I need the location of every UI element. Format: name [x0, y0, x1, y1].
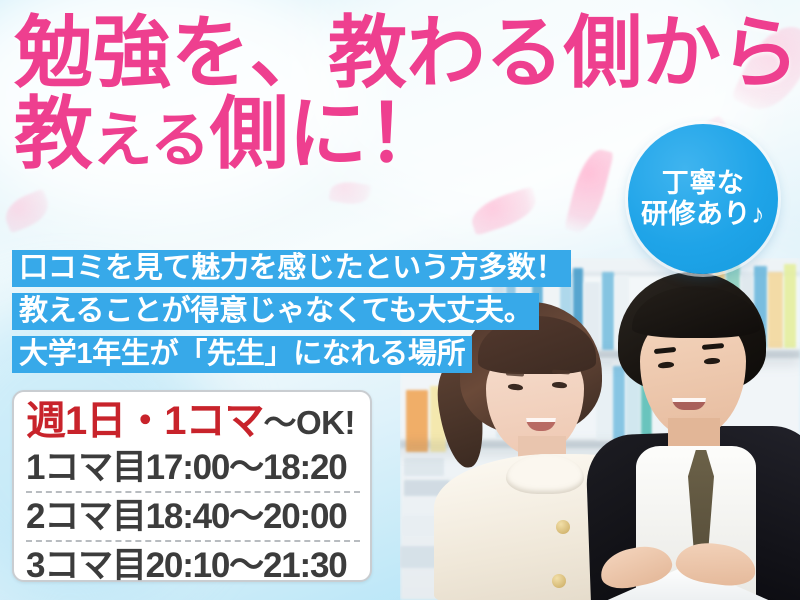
benefit-banner-list: 口コミを見て魅力を感じたという方多数！ 教えることが得意じゃなくても大丈夫。 大… — [12, 250, 571, 379]
sweater-button — [552, 574, 566, 588]
badge-line-1: 丁寧な — [662, 168, 745, 199]
training-badge: 丁寧な 研修あり♪ — [628, 124, 778, 274]
shift-ok-text: 〜OK! — [264, 404, 356, 441]
headline-line-2-part-a: 教 — [14, 89, 93, 178]
petal-icon — [0, 188, 54, 233]
schedule-card-heading: 週1日・1コマ〜OK! — [26, 398, 360, 444]
headline-line-2-part-b: える — [93, 107, 210, 174]
schedule-row-1: 1コマ目17:00〜18:20 — [26, 444, 360, 493]
benefit-banner-2: 教えることが得意じゃなくても大丈夫。 — [12, 293, 539, 330]
schedule-card: 週1日・1コマ〜OK! 1コマ目17:00〜18:20 2コマ目18:40〜20… — [12, 390, 372, 582]
schedule-row-2: 2コマ目18:40〜20:00 — [26, 493, 360, 542]
petal-icon — [467, 186, 541, 236]
advertisement-banner: 勉強を、教わる側から、 教える側に！ 丁寧な 研修あり♪ 口コミを見て魅力を感じ… — [0, 0, 800, 600]
sweater-button — [556, 520, 570, 534]
headline-line-1: 勉強を、教わる側から、 — [14, 14, 774, 91]
schedule-row-3: 3コマ目20:10〜21:30 — [26, 542, 360, 589]
badge-line-2: 研修あり♪ — [641, 199, 765, 230]
headline-line-2-part-c: 側に！ — [210, 89, 446, 178]
girl-eye-right — [552, 381, 567, 388]
benefit-banner-1: 口コミを見て魅力を感じたという方多数！ — [12, 250, 571, 287]
benefit-banner-3: 大学1年生が「先生」になれる場所 — [12, 336, 472, 373]
petal-icon — [328, 179, 371, 208]
shift-highlight-text: 週1日・1コマ — [26, 399, 264, 443]
girl-turtleneck-collar — [506, 454, 584, 494]
